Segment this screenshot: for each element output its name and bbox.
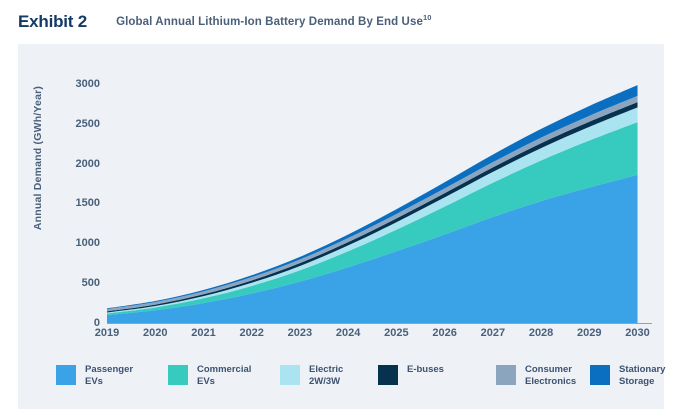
legend-item-consumer-electronics[interactable]: Consumer Electronics [496,364,576,387]
x-tick-label: 2030 [625,327,649,339]
y-tick-label: 1000 [56,237,100,249]
legend-label: Electric 2W/3W [309,364,343,387]
x-axis-line [107,323,652,324]
x-tick-label: 2022 [239,327,263,339]
y-tick-label: 1500 [56,197,100,209]
stacked-area-svg [107,72,652,323]
x-tick-label: 2027 [481,327,505,339]
legend-swatch-icon [168,365,188,385]
chart-title-superscript: 10 [423,13,432,22]
chart-title: Global Annual Lithium-Ion Battery Demand… [116,16,431,28]
x-tick-label: 2029 [577,327,601,339]
legend-swatch-icon [280,365,300,385]
legend-swatch-icon [378,365,398,385]
chart-legend: Passenger EVsCommercial EVsElectric 2W/3… [18,356,664,406]
chart-title-text: Global Annual Lithium-Ion Battery Demand… [116,16,423,28]
y-tick-label: 2000 [56,158,100,170]
y-axis-ticks: 050010001500200025003000 [56,44,100,344]
chart-panel: Annual Demand (GWh/Year) 050010001500200… [18,44,664,409]
x-tick-label: 2023 [288,327,312,339]
plot-wrapper: Annual Demand (GWh/Year) 050010001500200… [18,44,664,344]
legend-label: E-buses [407,364,444,376]
legend-item-stationary-storage[interactable]: Stationary Storage [590,364,665,387]
legend-item-commercial-evs[interactable]: Commercial EVs [168,364,251,387]
legend-label: Passenger EVs [85,364,133,387]
chart-header: Exhibit 2 Global Annual Lithium-Ion Batt… [0,0,678,44]
x-tick-label: 2026 [432,327,456,339]
x-tick-label: 2019 [95,327,119,339]
legend-swatch-icon [590,365,610,385]
y-tick-label: 500 [56,277,100,289]
x-tick-label: 2028 [529,327,553,339]
x-tick-label: 2020 [143,327,167,339]
x-axis-ticks: 2019202020212022202320242025202620272028… [107,327,652,347]
legend-item-electric-2w3w[interactable]: Electric 2W/3W [280,364,343,387]
y-tick-label: 0 [56,317,100,329]
x-tick-label: 2024 [336,327,360,339]
legend-label: Commercial EVs [197,364,251,387]
x-tick-label: 2021 [191,327,215,339]
x-tick-label: 2025 [384,327,408,339]
y-axis-label: Annual Demand (GWh/Year) [32,58,44,258]
legend-label: Consumer Electronics [525,364,576,387]
y-tick-label: 3000 [56,78,100,90]
legend-item-e-buses[interactable]: E-buses [378,364,444,385]
y-tick-label: 2500 [56,118,100,130]
legend-label: Stationary Storage [619,364,665,387]
legend-swatch-icon [56,365,76,385]
legend-item-passenger-evs[interactable]: Passenger EVs [56,364,133,387]
plot-area [107,72,652,323]
legend-swatch-icon [496,365,516,385]
exhibit-label: Exhibit 2 [18,12,87,32]
